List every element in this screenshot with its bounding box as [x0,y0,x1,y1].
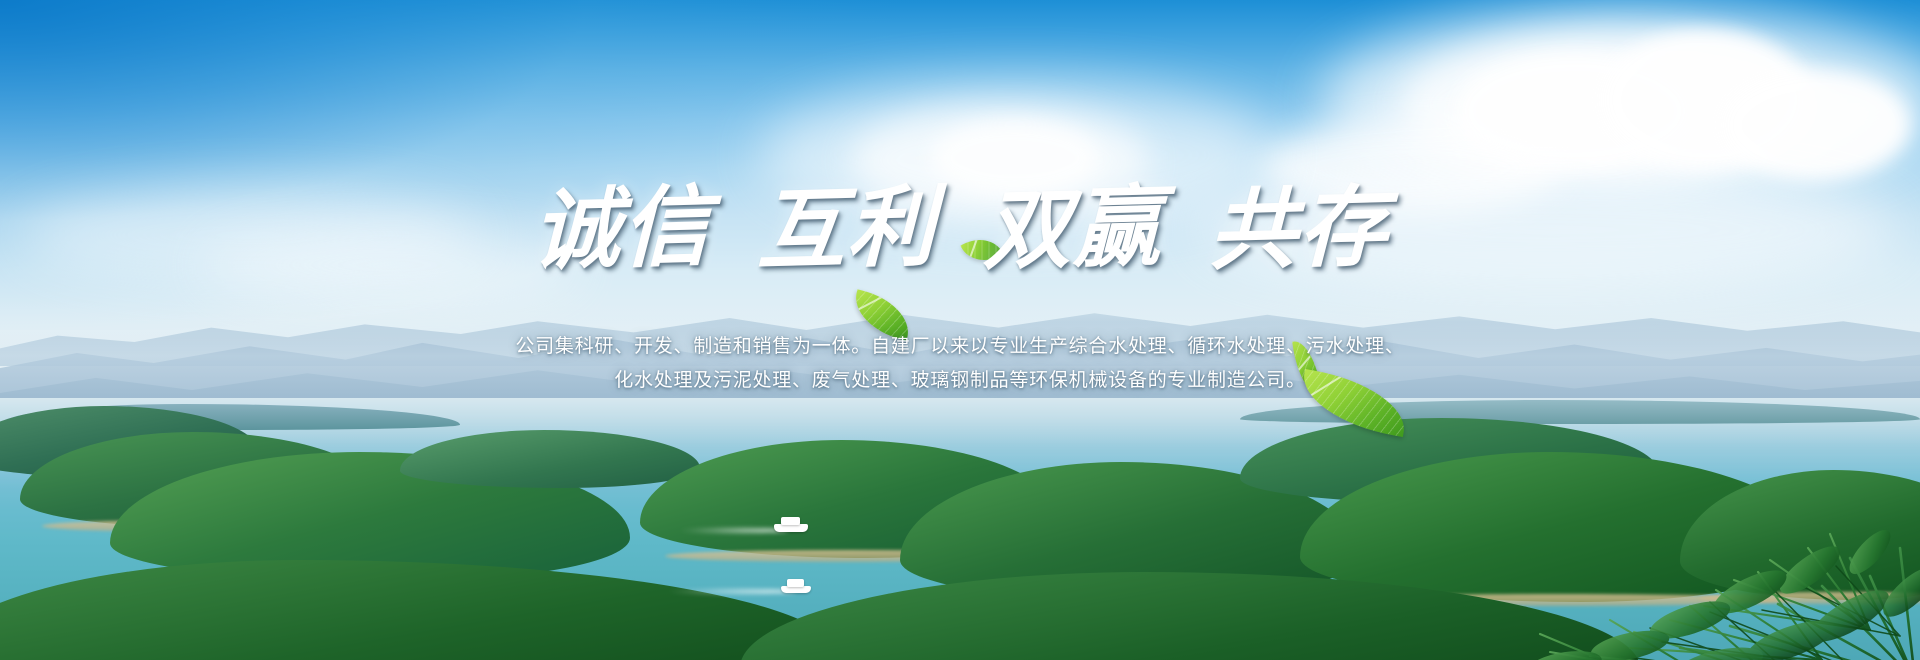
description-line-1: 公司集科研、开发、制造和销售为一体。自建厂以来以专业生产综合水处理、循环水处理、… [0,330,1920,364]
headline-word-4: 共存 [1208,183,1388,280]
hero-banner: 诚信互利双赢共存 公司集科研、开发、制造和销售为一体。自建厂以来以专业生产综合水… [0,0,1920,660]
ferry-boat-upper [768,516,816,534]
headline-word-1: 诚信 [531,183,711,280]
island-far-right-edge [1680,470,1920,600]
headline-word-3: 双赢 [983,183,1163,280]
banner-description: 公司集科研、开发、制造和销售为一体。自建厂以来以专业生产综合水处理、循环水处理、… [0,330,1920,398]
island-foreground-bottom-right [740,572,1640,660]
page-title: 诚信互利双赢共存 [0,185,1920,277]
ferry-boat-lower [776,578,820,595]
description-line-2: 化水处理及污泥处理、废气处理、玻璃钢制品等环保机械设备的专业制造公司。 [0,364,1920,398]
headline-word-2: 互利 [757,183,937,280]
island-foreground-bottom [0,560,840,660]
